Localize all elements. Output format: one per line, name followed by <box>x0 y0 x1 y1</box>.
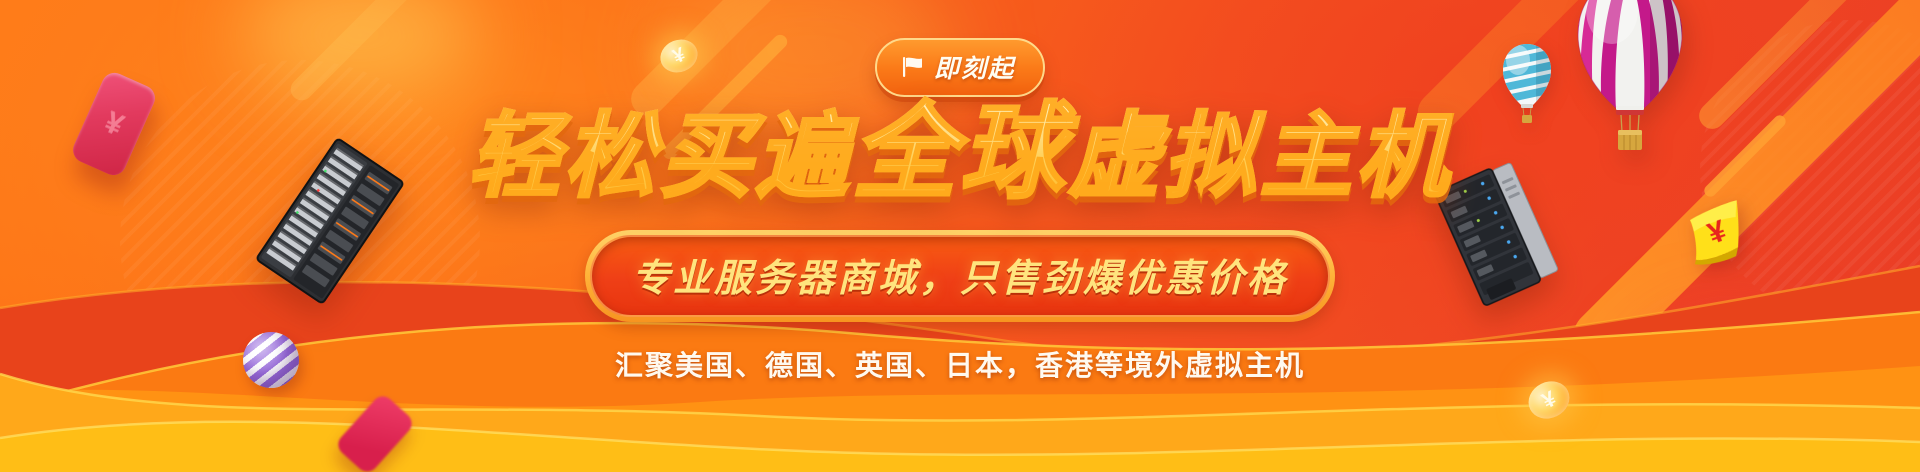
subtitle-pill-inner: 专业服务器商城，只售劲爆优惠价格 <box>590 235 1330 317</box>
subtitle-pill: 专业服务器商城，只售劲爆优惠价格 <box>585 230 1335 322</box>
flag-icon <box>901 56 925 78</box>
page-title: 轻松买遍全球虚拟主机 <box>468 93 1452 214</box>
banner-caption: 汇聚美国、德国、英国、日本，香港等境外虚拟主机 <box>615 344 1305 384</box>
title-part-2: 全球 <box>852 95 1068 211</box>
title-part-3: 虚拟主机 <box>1068 106 1452 208</box>
badge-label: 即刻起 <box>934 49 1015 85</box>
banner-content: 即刻起 轻松买遍全球虚拟主机 专业服务器商城，只售劲爆优惠价格 汇聚美国、德国、… <box>0 0 1920 472</box>
title-part-1: 轻松买遍 <box>468 106 852 208</box>
start-now-badge[interactable]: 即刻起 <box>875 38 1045 97</box>
badge-wrapper: 即刻起 <box>875 38 1045 97</box>
promo-banner: ¥ <box>0 0 1920 472</box>
subtitle-pill-text: 专业服务器商城，只售劲爆优惠价格 <box>632 247 1288 302</box>
